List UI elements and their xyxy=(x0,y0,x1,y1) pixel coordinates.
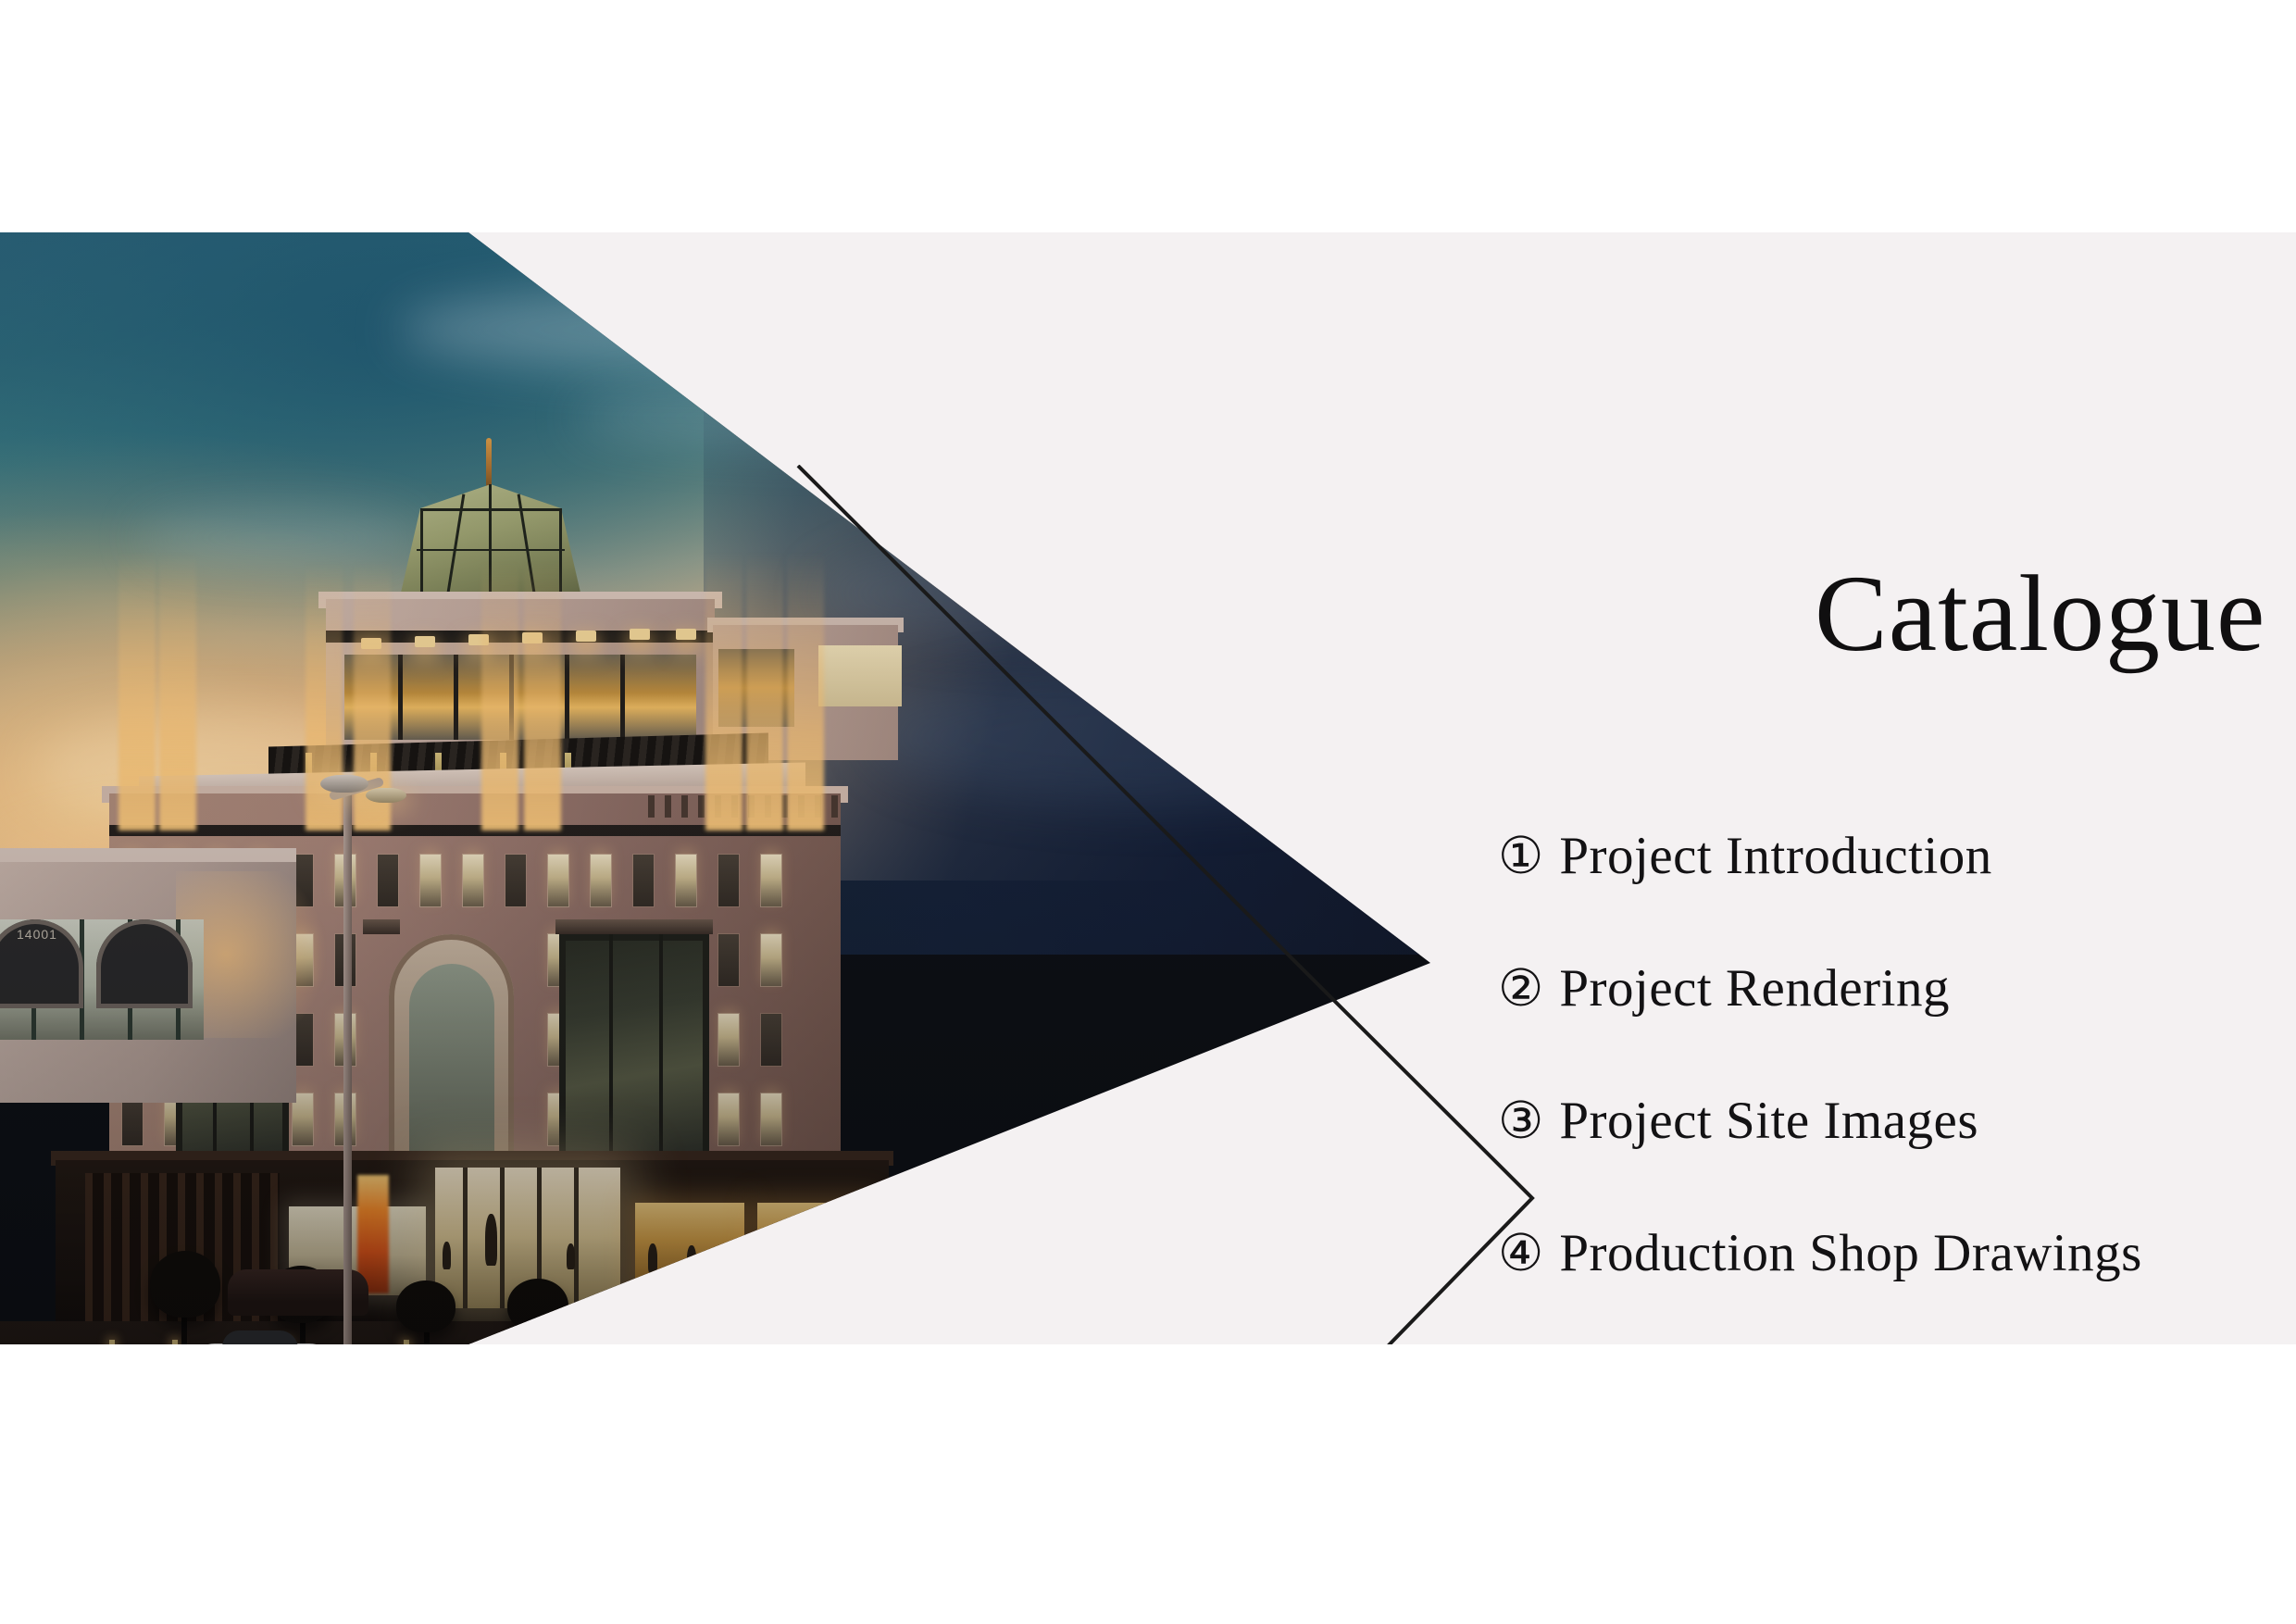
content-band: 14001 xyxy=(0,232,2296,1344)
window xyxy=(463,855,483,906)
window xyxy=(761,1093,781,1145)
downlight xyxy=(676,629,696,640)
facade-uplight xyxy=(705,553,742,831)
window xyxy=(718,855,739,906)
window xyxy=(718,1014,739,1066)
catalogue-item-label: Project Introduction xyxy=(1559,830,1991,882)
catalogue-item-project-site-images[interactable]: ③ Project Site Images xyxy=(1498,1094,2294,1227)
bollard-light xyxy=(515,1340,520,1344)
bollard-light xyxy=(615,1340,620,1344)
arcade-arch xyxy=(96,919,193,1008)
bollard-light xyxy=(172,1340,178,1344)
street-tree xyxy=(396,1280,455,1332)
tree-trunk xyxy=(535,1321,541,1344)
slide-canvas: 14001 xyxy=(0,0,2296,1624)
circled-number-4-icon: ④ xyxy=(1498,1228,1543,1279)
street-lamp-head xyxy=(366,788,406,803)
tree-trunk xyxy=(670,1319,676,1344)
window xyxy=(718,1093,739,1145)
spire xyxy=(486,438,492,490)
bollard-light xyxy=(733,1340,739,1344)
figure xyxy=(567,1243,575,1269)
catalogue-item-project-introduction[interactable]: ① Project Introduction xyxy=(1498,830,2294,962)
shop-window xyxy=(757,1203,870,1295)
facade-uplight xyxy=(787,553,824,831)
street-number: 14001 xyxy=(17,927,57,942)
window xyxy=(420,855,441,906)
sidewalk xyxy=(0,1321,1430,1344)
window xyxy=(633,855,654,906)
hero-photo: 14001 xyxy=(0,232,1430,1344)
catalogue-item-label: Project Site Images xyxy=(1559,1094,1978,1147)
cloud xyxy=(870,668,1430,806)
street-tree xyxy=(150,1251,220,1318)
facade-uplight xyxy=(159,553,196,831)
pavilion-glazing xyxy=(344,655,696,740)
window xyxy=(676,855,696,906)
window xyxy=(761,855,781,906)
figure xyxy=(443,1242,451,1269)
bay-head xyxy=(363,919,400,934)
page-title: Catalogue xyxy=(1815,556,2296,671)
downlight xyxy=(630,629,650,640)
car-cabin xyxy=(222,1330,298,1344)
bay-head xyxy=(555,919,713,934)
street-lamp-head xyxy=(320,775,368,793)
street-lamp-pole xyxy=(343,788,352,1344)
catalogue-item-project-rendering[interactable]: ② Project Rendering xyxy=(1498,962,2294,1094)
catalogue-item-production-shop-drawings[interactable]: ④ Production Shop Drawings xyxy=(1498,1227,2294,1344)
window xyxy=(761,934,781,986)
facade-uplight xyxy=(746,553,783,831)
downlight xyxy=(415,636,435,647)
figure xyxy=(648,1243,657,1273)
right-wing-panel xyxy=(818,645,902,706)
circled-number-3-icon: ③ xyxy=(1498,1095,1543,1146)
facade-uplight xyxy=(481,562,518,831)
facade-uplight xyxy=(524,562,561,831)
bollard-light xyxy=(404,1340,409,1344)
window xyxy=(505,855,526,906)
figure xyxy=(798,1243,807,1273)
facade-uplight xyxy=(119,553,156,831)
circled-number-1-icon: ① xyxy=(1498,831,1543,881)
figure xyxy=(687,1245,696,1273)
curtain-wall-bay xyxy=(559,934,709,1158)
hero-photo-artwork: 14001 xyxy=(0,232,1430,1344)
circled-number-2-icon: ② xyxy=(1498,963,1543,1014)
catalogue-item-label: Project Rendering xyxy=(1559,962,1950,1015)
window xyxy=(378,855,398,906)
catalogue-list: ① Project Introduction ② Project Renderi… xyxy=(1498,830,2294,1344)
street-tree xyxy=(641,1275,704,1330)
window xyxy=(548,855,568,906)
bollard-light xyxy=(109,1340,115,1344)
window xyxy=(718,934,739,986)
catalogue-item-label: Production Shop Drawings xyxy=(1559,1227,2141,1280)
window xyxy=(761,1014,781,1066)
downlight xyxy=(576,631,596,642)
cloud xyxy=(574,390,1055,445)
street-tree xyxy=(507,1279,568,1332)
window xyxy=(591,855,611,906)
cloud xyxy=(398,288,972,371)
figure xyxy=(485,1214,497,1266)
